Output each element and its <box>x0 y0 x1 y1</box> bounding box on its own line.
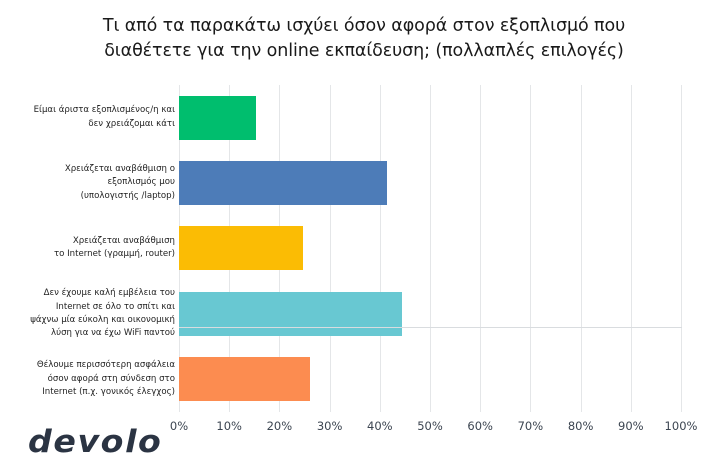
x-tick-label: 10% <box>216 419 242 433</box>
x-tick-label: 90% <box>618 419 644 433</box>
category-label: Θέλουμε περισσότερη ασφάλεια όσον αφορά … <box>10 347 175 412</box>
chart-row: Δεν έχουμε καλή εμβέλεια του Internet σε… <box>0 281 728 346</box>
chart-row: Είμαι άριστα εξοπλισμένος/η και δεν χρει… <box>0 85 728 150</box>
x-tick-label: 20% <box>267 419 293 433</box>
chart-row: Θέλουμε περισσότερη ασφάλεια όσον αφορά … <box>0 347 728 412</box>
x-tick-label: 100% <box>665 419 698 433</box>
bar-1 <box>179 96 256 140</box>
devolo-logo: devolo <box>28 424 162 460</box>
bar-5 <box>179 357 310 401</box>
chart-row: Χρειάζεται αναβάθμιση ο εξοπλισμός μου (… <box>0 150 728 215</box>
x-tick-label: 30% <box>317 419 343 433</box>
chart-plot-area: Είμαι άριστα εξοπλισμένος/η και δεν χρει… <box>0 85 728 413</box>
title-line-1: Τι από τα παρακάτω ισχύει όσον αφορά στο… <box>40 14 688 39</box>
chart-row: Χρειάζεται αναβάθμιση το Internet (γραμμ… <box>0 216 728 281</box>
category-label: Χρειάζεται αναβάθμιση το Internet (γραμμ… <box>10 216 175 281</box>
x-axis-baseline <box>179 327 682 328</box>
x-tick-label: 80% <box>568 419 594 433</box>
category-label: Δεν έχουμε καλή εμβέλεια του Internet σε… <box>10 281 175 346</box>
x-tick-label: 0% <box>170 419 188 433</box>
bar-4 <box>179 292 402 336</box>
x-tick-label: 60% <box>467 419 493 433</box>
category-label: Είμαι άριστα εξοπλισμένος/η και δεν χρει… <box>10 85 175 150</box>
page-title: Τι από τα παρακάτω ισχύει όσον αφορά στο… <box>40 14 688 65</box>
x-tick-label: 70% <box>518 419 544 433</box>
bar-3 <box>179 226 303 270</box>
x-tick-label: 50% <box>417 419 443 433</box>
x-axis-ticks: 0%10%20%30%40%50%60%70%80%90%100% <box>179 419 681 439</box>
category-label: Χρειάζεται αναβάθμιση ο εξοπλισμός μου (… <box>10 150 175 215</box>
bar-2 <box>179 161 387 205</box>
title-line-2: διαθέτετε για την online εκπαίδευση; (πο… <box>40 39 688 64</box>
chart-bars: Είμαι άριστα εξοπλισμένος/η και δεν χρει… <box>0 85 728 412</box>
x-tick-label: 40% <box>367 419 393 433</box>
